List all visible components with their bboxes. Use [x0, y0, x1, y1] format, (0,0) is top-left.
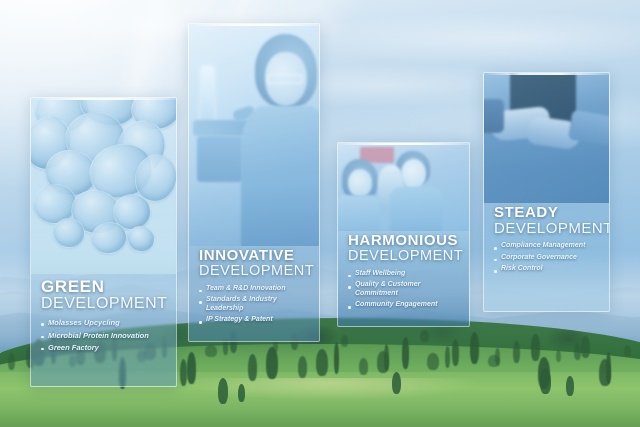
panel-harmonious-development[interactable]: HARMONIOUS DEVELOPMENT Staff Wellbeing Q… — [337, 142, 470, 327]
panel-harmonious-text: HARMONIOUS DEVELOPMENT Staff Wellbeing Q… — [338, 233, 469, 313]
tree-shape — [445, 346, 450, 368]
tree-shape — [238, 384, 245, 402]
panel-green-development[interactable]: GREEN DEVELOPMENT Molasses Upcycling Mic… — [30, 97, 177, 387]
tree-shape — [452, 339, 459, 366]
tree-shape — [316, 349, 328, 376]
researcher-glasses-shape — [267, 74, 303, 84]
panel-steady-bullets: Compliance Management Corporate Governan… — [494, 242, 599, 274]
panel-green-bullets: Molasses Upcycling Microbial Protein Inn… — [41, 318, 166, 351]
tree-shape — [359, 358, 368, 375]
list-item: Compliance Management — [494, 242, 599, 251]
tree-shape — [531, 334, 540, 361]
list-item: Standards & Industry Leadership — [199, 296, 309, 313]
man-face-shape — [401, 159, 426, 189]
panel-innovative-development[interactable]: INNOVATIVE DEVELOPMENT Team & R&D Innova… — [188, 23, 320, 342]
lab-researcher-microscope-photo — [189, 24, 319, 246]
sleeve-shape — [484, 99, 504, 133]
panel-steady-title-bold: STEADY — [494, 205, 599, 221]
tree-shape — [540, 368, 551, 394]
tree-shape — [248, 354, 257, 381]
tree-shape — [392, 372, 401, 394]
tree-shape — [298, 356, 307, 378]
panel-steady-text: STEADY DEVELOPMENT Compliance Management… — [484, 205, 609, 277]
tree-shape — [205, 345, 217, 357]
list-item: Community Engagement — [348, 301, 459, 310]
tree-shape — [402, 337, 409, 369]
tree-shape — [187, 352, 196, 384]
panel-harmonious-bullets: Staff Wellbeing Quality & Customer Commi… — [348, 270, 459, 310]
tree-shape — [334, 342, 339, 374]
researcher-body-shape — [241, 106, 319, 246]
panel-harmonious-title-light: DEVELOPMENT — [348, 249, 459, 264]
yeast-cells-photo — [31, 98, 176, 274]
list-item: Molasses Upcycling — [41, 318, 166, 327]
panel-steady-development[interactable]: STEADY DEVELOPMENT Compliance Management… — [483, 72, 610, 312]
list-item: Staff Wellbeing — [348, 270, 459, 279]
panel-innovative-title-light: DEVELOPMENT — [199, 264, 309, 279]
tree-shape — [384, 344, 389, 371]
list-item: Green Factory — [41, 343, 166, 352]
list-item: Corporate Governance — [494, 254, 599, 263]
man-shirt-shape — [390, 187, 442, 231]
handshake-photo — [484, 73, 609, 203]
panel-green-text: GREEN DEVELOPMENT Molasses Upcycling Mic… — [31, 278, 176, 355]
list-item: Quality & Customer Commitment — [348, 281, 459, 298]
microscope-stage-shape — [197, 136, 243, 182]
list-item: Microbial Protein Innovation — [41, 331, 166, 340]
tree-shape — [341, 335, 348, 347]
woman-shirt-shape — [338, 195, 380, 231]
list-item: Risk Control — [494, 265, 599, 274]
tree-shape — [624, 345, 631, 357]
panel-innovative-text: INNOVATIVE DEVELOPMENT Team & R&D Innova… — [189, 248, 319, 328]
tree-shape — [513, 341, 520, 363]
tree-shape — [8, 353, 15, 370]
slide-canvas: GREEN DEVELOPMENT Molasses Upcycling Mic… — [0, 0, 640, 427]
tree-shape — [581, 336, 590, 358]
list-item: Team & R&D Innovation — [199, 285, 309, 294]
tree-shape — [470, 332, 479, 364]
panel-innovative-title-bold: INNOVATIVE — [199, 248, 309, 264]
tree-shape — [566, 376, 574, 396]
list-item: IP Strategy & Patent — [199, 316, 309, 325]
tree-shape — [495, 348, 500, 365]
panel-steady-title-light: DEVELOPMENT — [494, 221, 599, 237]
panel-green-title-light: DEVELOPMENT — [41, 296, 166, 313]
tree-shape — [606, 352, 611, 384]
tree-shape — [420, 330, 429, 342]
panel-harmonious-title-bold: HARMONIOUS — [348, 233, 459, 249]
tree-shape — [427, 353, 439, 370]
tree-shape — [218, 378, 228, 404]
panel-innovative-bullets: Team & R&D Innovation Standards & Indust… — [199, 285, 309, 325]
woman-face-shape — [348, 169, 372, 197]
tree-shape — [556, 350, 561, 362]
team-high-five-photo — [338, 143, 469, 231]
panel-green-title-bold: GREEN — [41, 278, 166, 296]
